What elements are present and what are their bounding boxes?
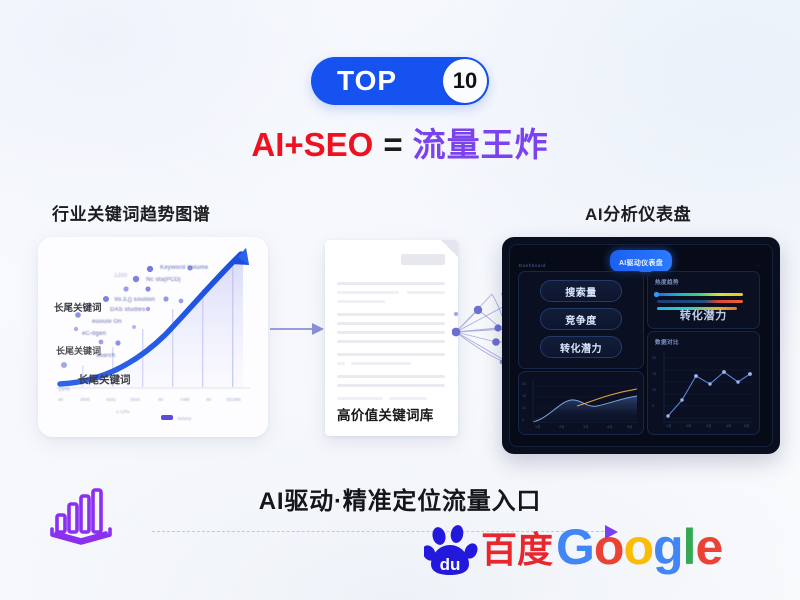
chart-axis-label-5: 49 <box>158 397 163 402</box>
doc-card-title: 高价值关键词库 <box>337 404 434 424</box>
ai-dashboard-card: AI驱动仪表盘 Dashboard ··· 搜索量 竞争度 转化潜力 <box>502 237 780 454</box>
chart-blur-label-3: Vo.3.() soulion <box>114 297 155 303</box>
line-y-1: 20 <box>652 356 656 360</box>
line-x-2: 2月 <box>686 424 692 429</box>
top-badge-label: TOP <box>337 67 397 95</box>
line-x-4: 4月 <box>726 424 732 429</box>
area-y-4: 5 <box>522 418 524 422</box>
chart-legend-swatch <box>161 415 173 420</box>
chart-blur-label-5: euouio On <box>92 319 122 325</box>
headline-right: 流量王炸 <box>413 126 549 163</box>
headline-left: AI+SEO <box>251 126 373 163</box>
metric-pill-label-3: 转化潜力 <box>560 340 602 355</box>
dashboard-screen: AI驱动仪表盘 Dashboard ··· 搜索量 竞争度 转化潜力 <box>509 244 773 447</box>
chart-axis-label-2: 3846 <box>80 397 90 402</box>
doc-header-block <box>401 254 445 265</box>
baidu-wordmark: 百度 <box>481 532 553 568</box>
metric-pill-conversion[interactable]: 转化潜力 <box>540 336 622 358</box>
chart-axis-label-3: 4342 <box>106 397 116 402</box>
area-x-2: 2月 <box>559 425 565 430</box>
headline-equals: = <box>383 126 402 163</box>
chart-keyword-3: 长尾关键词 <box>78 372 131 387</box>
heat-marker-dot <box>653 291 660 298</box>
line-y-4: 5 <box>652 404 654 408</box>
heat-gradient-bar-2 <box>657 300 743 303</box>
google-letter-3: o <box>623 519 653 575</box>
dashboard-area-chart-panel: 20 15 10 5 1月 2月 3月 4月 5月 <box>518 371 644 435</box>
trend-chart-svg <box>38 237 268 437</box>
area-x-4: 4月 <box>607 425 613 430</box>
area-y-2: 15 <box>522 394 526 398</box>
play-arrow-icon <box>602 524 620 540</box>
top-rank-badge: TOP 10 <box>311 57 489 105</box>
page-title: AI+SEO=流量王炸 <box>0 128 800 161</box>
dashboard-heat-panel: 热度趋势 转化潜力 <box>647 271 760 329</box>
poster-stage: TOP 10 AI+SEO=流量王炸 行业关键词趋势图谱 AI分析仪表盘 <box>0 0 800 600</box>
chart-axis-label-8: 302486 <box>226 397 241 402</box>
google-letter-5: l <box>683 519 696 575</box>
chart-blur-label-2: Nc sta(PCD) <box>146 277 181 283</box>
area-y-3: 10 <box>522 406 526 410</box>
chart-blur-label-4: DAS studies <box>110 307 145 313</box>
bar-chart-pedestal-icon <box>48 485 114 547</box>
metric-pill-label-1: 搜索量 <box>565 284 597 299</box>
chart-blur-label-9: 15% <box>58 387 70 393</box>
chart-blur-label-1: Keyword Volume <box>160 265 208 271</box>
right-arrow-icon <box>268 318 326 340</box>
chart-axis-label-7: 49 <box>206 397 211 402</box>
baidu-du-text: du <box>440 555 461 574</box>
keyword-library-doc: 高价值关键词库 <box>325 240 458 436</box>
bottom-tagline: AI驱动·精准定位流量入口 <box>0 481 800 516</box>
chart-axis-label-4: 2844 <box>130 397 140 402</box>
heat-gradient-bar-1 <box>657 293 743 296</box>
top-badge-circle: 10 <box>443 59 487 103</box>
area-y-1: 20 <box>522 382 526 386</box>
line-x-3: 3月 <box>706 424 712 429</box>
google-letter-4: g <box>653 519 683 575</box>
section-label-left: 行业关键词趋势图谱 <box>52 200 210 225</box>
google-letter-6: e <box>695 519 722 575</box>
baidu-logo: du 百度 <box>424 522 553 578</box>
line-y-3: 10 <box>652 388 656 392</box>
area-x-3: 3月 <box>583 425 589 430</box>
line-chart-svg <box>648 332 759 434</box>
dashboard-brand-label: Dashboard <box>519 263 546 268</box>
heat-panel-title: 热度趋势 <box>655 278 679 286</box>
chart-x-caption: 1-12hs <box>116 409 129 414</box>
dashboard-menu-icon[interactable]: ··· <box>756 263 764 269</box>
chart-keyword-2: 长尾关键词 <box>56 344 101 357</box>
google-letter-1: G <box>556 519 594 575</box>
chart-blur-label-8: 1200 <box>114 273 127 279</box>
dashboard-line-chart-panel: 数据对比 2 <box>647 331 760 435</box>
metric-pill-search-volume[interactable]: 搜索量 <box>540 280 622 302</box>
chart-blur-label-6: eC-dgen <box>82 331 106 337</box>
chart-blur-label-7: search <box>96 353 115 359</box>
chart-legend-label: Volume <box>177 416 192 421</box>
section-label-right: AI分析仪表盘 <box>585 200 691 225</box>
keyword-trend-card: 长尾关键词 长尾关键词 长尾关键词 Keyword Volume Nc sta(… <box>38 237 268 437</box>
line-y-2: 15 <box>652 372 656 376</box>
metric-pill-label-2: 竞争度 <box>565 312 597 327</box>
google-logo: Google <box>556 522 722 572</box>
chart-keyword-1: 长尾关键词 <box>54 300 102 314</box>
line-x-5: 5月 <box>744 424 750 429</box>
top-badge-number: 10 <box>453 70 477 92</box>
dashboard-metrics-panel: 搜索量 竞争度 转化潜力 <box>518 271 644 369</box>
dashboard-title-badge: AI驱动仪表盘 <box>610 250 672 272</box>
area-x-1: 1月 <box>535 425 541 430</box>
metric-pill-competition[interactable]: 竞争度 <box>540 308 622 330</box>
area-x-5: 5月 <box>627 425 633 430</box>
baidu-paw-icon: du <box>424 523 480 577</box>
dashboard-badge-label: AI驱动仪表盘 <box>619 260 663 267</box>
line-x-1: 1月 <box>666 424 672 429</box>
chart-axis-label-6: 7486 <box>180 397 190 402</box>
chart-axis-label-1: 48 <box>58 397 63 402</box>
heat-overlay-word: 转化潜力 <box>680 307 727 323</box>
